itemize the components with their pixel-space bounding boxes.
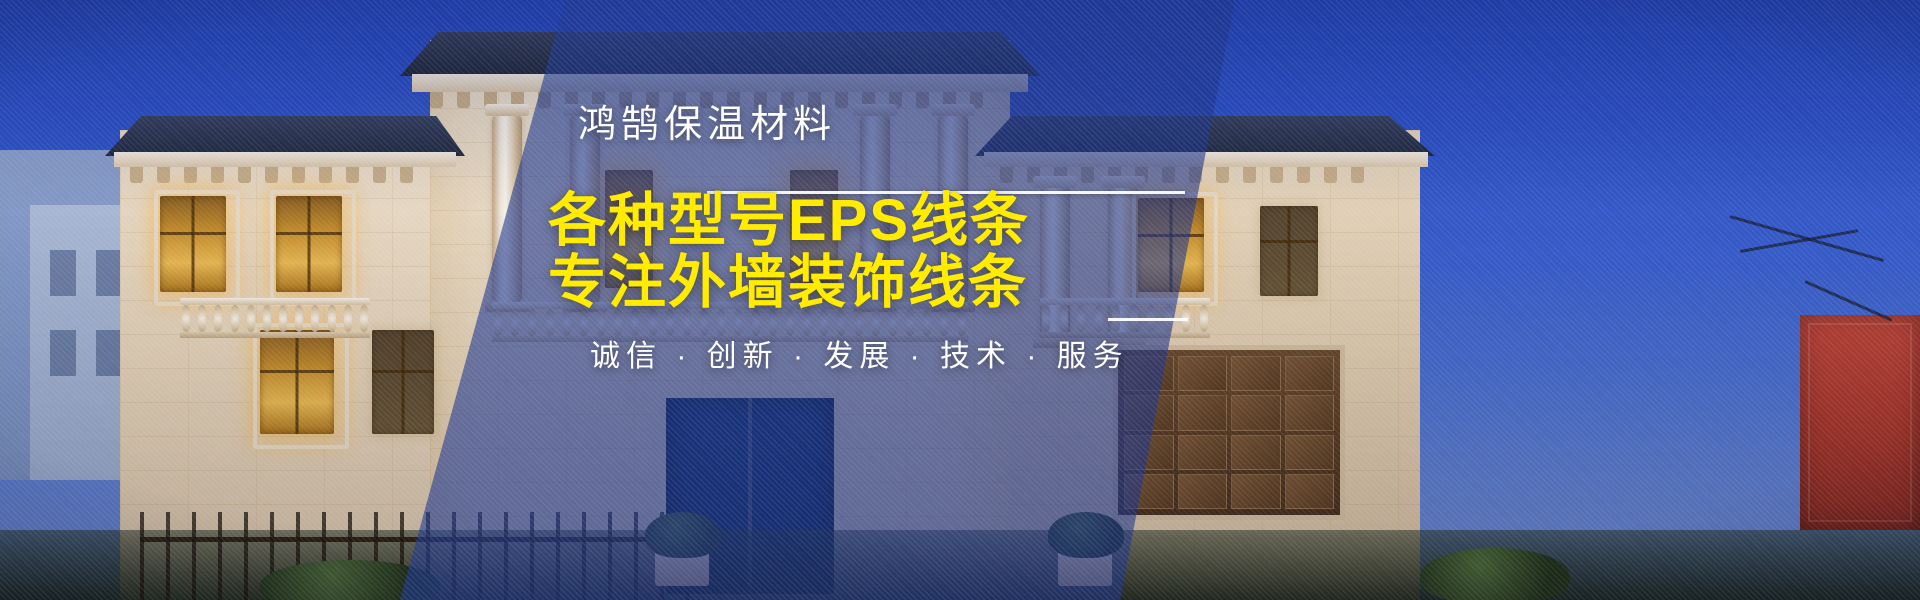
brand-name: 鸿鹄保温材料	[578, 106, 836, 144]
headline: 各种型号EPS线条 专注外墙装饰线条	[548, 190, 1030, 314]
headline-line-2: 专注外墙装饰线条	[548, 252, 1030, 314]
banner-content: 鸿鹄保温材料 各种型号EPS线条 专注外墙装饰线条 诚信 · 创新 · 发展 ·…	[0, 0, 1920, 600]
headline-line-1: 各种型号EPS线条	[548, 188, 1030, 253]
tagline: 诚信 · 创新 · 发展 · 技术 · 服务	[590, 331, 1129, 375]
promo-banner: 鸿鹄保温材料 各种型号EPS线条 专注外墙装饰线条 诚信 · 创新 · 发展 ·…	[0, 0, 1920, 600]
divider-line-bottom	[1108, 318, 1188, 321]
